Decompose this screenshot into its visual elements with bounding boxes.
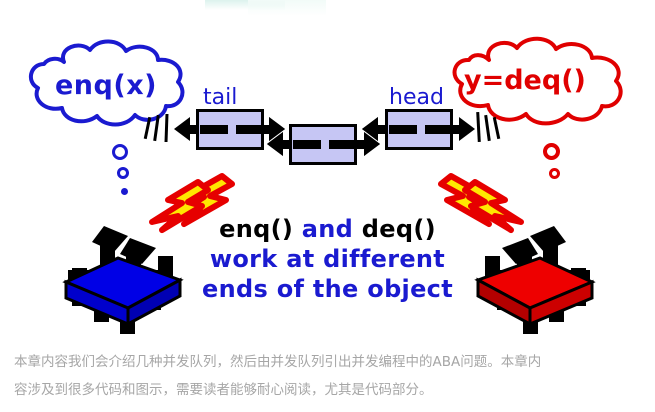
tail-label: tail xyxy=(203,85,237,110)
caption-line-2: work at different xyxy=(0,244,655,274)
right-thought-dot-large xyxy=(543,143,560,160)
caption-enq: enq() xyxy=(219,215,293,243)
left-cloud-tick-1 xyxy=(144,117,152,139)
head-label: head xyxy=(389,85,444,110)
right-cloud-tick-1 xyxy=(476,112,481,142)
arrow-shaft-inside-2a xyxy=(293,140,321,149)
left-thought-dot-medium xyxy=(117,167,129,179)
footer-line-1: 本章内容我们会介绍几种并发队列，然后由并发队列引出并发编程中的ABA问题。本章内 xyxy=(14,348,644,376)
footer-line-2: 容涉及到很多代码和图示，需要读者能够耐心阅读，尤其是代码部分。 xyxy=(14,376,644,404)
arrow-shaft-inside-2b xyxy=(329,140,357,149)
left-cloud-label: enq(x) xyxy=(55,70,157,101)
caption-line-1: enq() and deq() xyxy=(0,214,655,244)
left-thought-dot-large xyxy=(112,144,128,160)
left-cloud-tick-2 xyxy=(153,115,160,141)
arrow-shaft-inside-3b xyxy=(425,125,453,134)
top-edge-artifact-secondary xyxy=(248,0,326,16)
arrow-shaft-inside-1a xyxy=(200,125,228,134)
left-cloud-tick-3 xyxy=(165,114,169,142)
right-cloud-tick-2 xyxy=(484,115,491,141)
caption-deq: deq() xyxy=(362,215,436,243)
arrow-head-right-b2-top xyxy=(364,132,380,156)
left-thought-dot-small xyxy=(121,188,128,195)
center-caption: enq() and deq() work at different ends o… xyxy=(0,214,655,304)
diagram-canvas: enq(x) y=deq() tail head xyxy=(0,0,655,412)
caption-line-3: ends of the object xyxy=(0,274,655,304)
right-thought-dot-small xyxy=(549,168,560,179)
caption-and: and xyxy=(302,215,353,243)
arrow-head-right-a2-top xyxy=(269,117,285,141)
arrow-head-left-a1 xyxy=(174,117,190,141)
right-cloud-label: y=deq() xyxy=(464,65,586,96)
arrow-shaft-inside-1b xyxy=(236,125,264,134)
arrow-shaft-inside-3a xyxy=(389,125,417,134)
footer-paragraph: 本章内容我们会介绍几种并发队列，然后由并发队列引出并发编程中的ABA问题。本章内… xyxy=(14,348,644,404)
right-cloud-tick-3 xyxy=(493,117,501,139)
arrow-head-right-a4 xyxy=(459,117,475,141)
